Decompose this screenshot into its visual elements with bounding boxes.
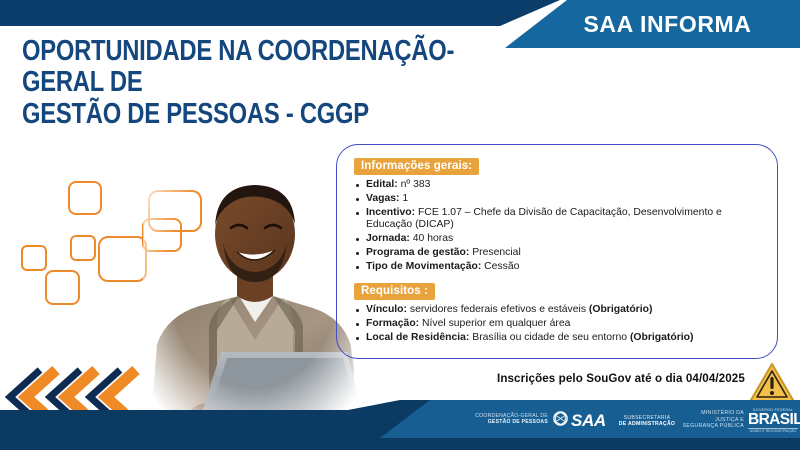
cggp-line-2: GESTÃO DE PESSOAS [452, 419, 548, 425]
list-item: Local de Residência: Brasília ou cidade … [354, 332, 766, 344]
page-title: OPORTUNIDADE NA COORDENAÇÃO-GERAL DE GES… [22, 36, 465, 130]
item-value: Brasília ou cidade de seu entorno [469, 332, 630, 343]
item-key: Formação: [366, 318, 419, 329]
section-tag-general: Informações gerais: [354, 158, 479, 175]
item-value: Presencial [469, 247, 520, 258]
footer-saa-logo: SAA [553, 411, 606, 431]
item-value: Nível superior em qualquer área [419, 318, 570, 329]
brasil-wordmark: BRASIL [748, 412, 798, 427]
ministry-line-3: SEGURANÇA PÚBLICA [672, 423, 744, 430]
item-value: 40 horas [410, 233, 453, 244]
decor-rounded-square-icon [70, 235, 96, 261]
list-item: Programa de gestão: Presencial [354, 247, 766, 259]
header-blue-banner: SAA INFORMA [505, 0, 800, 48]
item-key: Vagas: [366, 193, 400, 204]
card-section-requirements: Requisitos : Vínculo: servidores federai… [354, 281, 766, 346]
item-key: Tipo de Movimentação: [366, 261, 481, 272]
saa-wordmark: SAA [571, 411, 606, 431]
warning-triangle-icon [749, 362, 795, 404]
footer-cggp-label: COORDENAÇÃO-GERAL DE GESTÃO DE PESSOAS [452, 413, 548, 426]
item-key: Edital: [366, 179, 398, 190]
footer-ministry-label: MINISTÉRIO DA JUSTIÇA E SEGURANÇA PÚBLIC… [672, 410, 744, 430]
card-section-general: Informações gerais: Edital: nº 383 Vagas… [354, 156, 766, 275]
item-key: Incentivo: [366, 207, 415, 218]
footer-brasil-logo: GOVERNO FEDERAL BRASIL UNIÃO E RECONSTRU… [748, 408, 798, 433]
item-value: 1 [400, 193, 409, 204]
general-info-list: Edital: nº 383 Vagas: 1 Incentivo: FCE 1… [354, 179, 766, 273]
header-banner-label: SAA INFORMA [505, 0, 800, 48]
poster-canvas: SAA INFORMA OPORTUNIDADE NA COORDENAÇÃO-… [0, 0, 800, 450]
photo-man-with-laptop [143, 130, 365, 422]
saa-emblem-icon [553, 411, 568, 431]
requirements-list: Vínculo: servidores federais efetivos e … [354, 304, 766, 344]
brasil-slogan: UNIÃO E RECONSTRUÇÃO [748, 428, 798, 434]
item-key: Programa de gestão: [366, 247, 469, 258]
list-item: Jornada: 40 horas [354, 233, 766, 245]
registration-deadline-text: Inscrições pelo SouGov até o dia 04/04/2… [497, 372, 745, 385]
item-key: Local de Residência: [366, 332, 469, 343]
section-tag-requirements: Requisitos : [354, 283, 435, 300]
list-item: Vínculo: servidores federais efetivos e … [354, 304, 766, 316]
item-value: Cessão [481, 261, 519, 272]
item-key: Vínculo: [366, 304, 407, 315]
info-card: Informações gerais: Edital: nº 383 Vagas… [336, 144, 778, 359]
list-item: Vagas: 1 [354, 193, 766, 205]
list-item: Tipo de Movimentação: Cessão [354, 261, 766, 273]
ministry-line-1: MINISTÉRIO DA [672, 410, 744, 417]
item-value: servidores federais efetivos e estáveis [407, 304, 589, 315]
decor-rounded-square-icon [21, 245, 47, 271]
item-note: (Obrigatório) [589, 304, 653, 315]
decor-rounded-square-icon [98, 236, 147, 282]
list-item: Incentivo: FCE 1.07 – Chefe da Divisão d… [354, 207, 766, 232]
list-item: Formação: Nível superior em qualquer áre… [354, 318, 766, 330]
decor-rounded-square-icon [68, 181, 102, 215]
item-key: Jornada: [366, 233, 410, 244]
item-note: (Obrigatório) [630, 332, 694, 343]
item-value: nº 383 [398, 179, 431, 190]
item-value: FCE 1.07 – Chefe da Divisão de Capacitaç… [366, 207, 722, 230]
header-navy-band [0, 0, 560, 26]
list-item: Edital: nº 383 [354, 179, 766, 191]
decor-rounded-square-icon [45, 270, 80, 305]
